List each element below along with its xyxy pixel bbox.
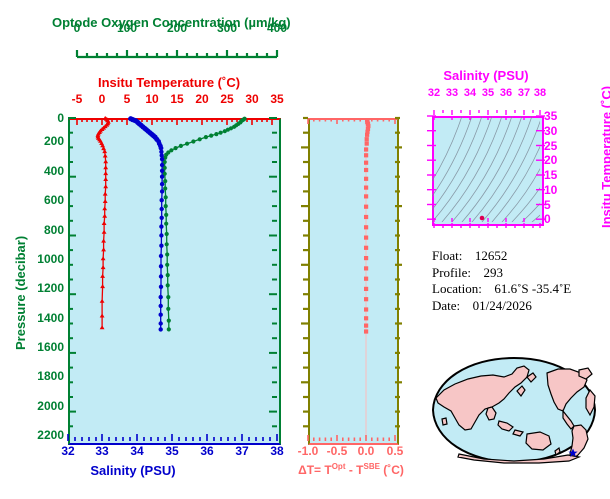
salinity-tick-33: 33	[95, 445, 108, 457]
oxygen-tick-100: 100	[117, 22, 137, 34]
metadata-block: Float: 12652 Profile: 293 Location: 61.6…	[432, 248, 571, 315]
temp-tick-30: 30	[245, 93, 258, 105]
date-value: 01/24/2026	[473, 298, 532, 313]
world-map	[428, 355, 600, 465]
profile-label: Profile:	[432, 265, 471, 280]
temp-tick-35: 35	[270, 93, 283, 105]
dt-tick--1.0: -1.0	[298, 445, 319, 457]
date-label: Date:	[432, 298, 460, 313]
temp-tick-25: 25	[220, 93, 233, 105]
dt-title-sup-sbe: SBE	[363, 462, 379, 471]
ts-temperature-ticklabels: 35 30 25 20 15 10 5 0	[544, 110, 566, 230]
ts-temperature-title-wrap: Insitu Temperature (˚C)	[600, 228, 610, 241]
ts-t-tick-5: 5	[544, 199, 551, 211]
float-value: 12652	[475, 248, 508, 263]
pressure-tick-2000: 2000	[37, 400, 64, 412]
dt-title-units: (˚C)	[380, 463, 404, 477]
ts-t-tick-20: 20	[544, 154, 557, 166]
salinity-tick-37: 37	[235, 445, 248, 457]
ts-t-tick-35: 35	[544, 110, 557, 122]
location-value: 61.6˚S -35.4˚E	[494, 281, 571, 296]
temperature-axis-ticklabels: -5 0 5 10 15 20 25 30 35	[68, 93, 280, 109]
oxygen-axis	[68, 38, 280, 60]
dt-tick-0.0: 0.0	[358, 445, 375, 457]
pressure-tick-1200: 1200	[37, 282, 64, 294]
salinity-tick-38: 38	[270, 445, 283, 457]
ts-s-tick-36: 36	[500, 88, 512, 99]
ts-s-tick-32: 32	[428, 88, 440, 99]
delta-t-ticklabels: -1.0 -0.5 0.0 0.5	[308, 445, 395, 461]
dt-tick--0.5: -0.5	[327, 445, 348, 457]
ts-s-tick-37: 37	[518, 88, 530, 99]
temp-tick-20: 20	[195, 93, 208, 105]
metadata-date-row: Date: 01/24/2026	[432, 298, 571, 315]
location-label: Location:	[432, 281, 482, 296]
dt-title-mid: - T	[345, 463, 363, 477]
ts-t-tick-0: 0	[544, 213, 551, 225]
profile-value: 293	[484, 265, 504, 280]
oxygen-tick-0: 0	[74, 22, 81, 34]
salinity-profile	[128, 116, 164, 331]
salinity-axis-ticklabels: 32 33 34 35 36 37 38	[68, 445, 277, 461]
ts-t-tick-30: 30	[544, 125, 557, 137]
temp-tick-5: 5	[124, 93, 131, 105]
pressure-tick-1000: 1000	[37, 253, 64, 265]
salinity-tick-36: 36	[200, 445, 213, 457]
dt-tick-0.5: 0.5	[387, 445, 404, 457]
pressure-tick-1400: 1400	[37, 312, 64, 324]
main-panel-plot	[68, 118, 277, 441]
pressure-tick-1800: 1800	[37, 370, 64, 382]
pressure-axis-title-wrap: Pressure (decibar)	[14, 350, 128, 363]
temp-tick-10: 10	[145, 93, 158, 105]
metadata-profile-row: Profile: 293	[432, 265, 571, 282]
ts-s-tick-33: 33	[446, 88, 458, 99]
temp-tick-0: 0	[99, 93, 106, 105]
ts-s-tick-38: 38	[534, 88, 546, 99]
ts-salinity-title: Salinity (PSU)	[443, 69, 528, 82]
ts-salinity-ticklabels: 32 33 34 35 36 37 38	[432, 88, 540, 102]
pressure-tick-400: 400	[44, 165, 64, 177]
float-label: Float:	[432, 248, 462, 263]
ts-temperature-title: Insitu Temperature (˚C)	[600, 86, 610, 228]
oxygen-tick-200: 200	[167, 22, 187, 34]
ts-t-tick-25: 25	[544, 140, 557, 152]
temp-tick-15: 15	[170, 93, 183, 105]
delta-t-axis-title: ΔT= TOpt - TSBE (˚C)	[298, 463, 404, 476]
delta-t-plot	[308, 118, 395, 441]
ts-t-tick-15: 15	[544, 169, 557, 181]
temp-tick--5: -5	[72, 93, 83, 105]
oxygen-tick-300: 300	[217, 22, 237, 34]
salinity-tick-35: 35	[165, 445, 178, 457]
oxygen-tick-400: 400	[267, 22, 287, 34]
pressure-tick-600: 600	[44, 194, 64, 206]
salinity-tick-32: 32	[61, 445, 74, 457]
pressure-tick-200: 200	[44, 135, 64, 147]
oxygen-profile	[163, 117, 247, 332]
temperature-axis-title: Insitu Temperature (˚C)	[98, 76, 240, 89]
metadata-location-row: Location: 61.6˚S -35.4˚E	[432, 281, 571, 298]
dt-title-main: ΔT= T	[298, 463, 332, 477]
ts-s-tick-35: 35	[482, 88, 494, 99]
metadata-float-row: Float: 12652	[432, 248, 571, 265]
salinity-axis-title: Salinity (PSU)	[90, 464, 175, 477]
pressure-tick-2200: 2200	[37, 429, 64, 441]
oxygen-axis-ticklabels: 0 100 200 300 400	[68, 22, 280, 38]
temperature-profile	[96, 116, 111, 329]
delta-t-profile	[364, 118, 371, 334]
ts-s-tick-34: 34	[464, 88, 476, 99]
dt-title-sup-opt: Opt	[332, 462, 346, 471]
ts-outer-ticks	[424, 104, 548, 234]
ts-t-tick-10: 10	[544, 184, 557, 196]
pressure-tick-800: 800	[44, 224, 64, 236]
pressure-axis-title: Pressure (decibar)	[14, 236, 27, 350]
pressure-tick-0: 0	[57, 112, 64, 124]
salinity-tick-34: 34	[130, 445, 143, 457]
